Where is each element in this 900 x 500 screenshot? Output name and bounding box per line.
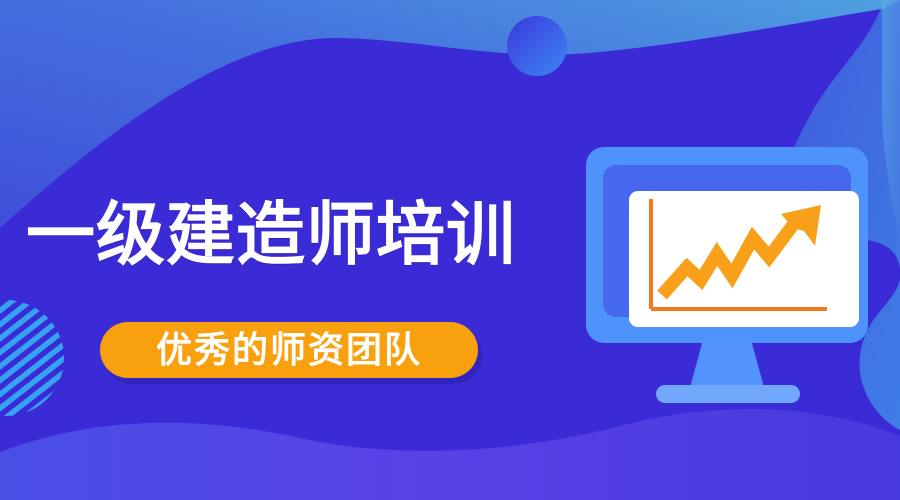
monitor-illustration — [586, 147, 868, 400]
growth-chart-icon — [629, 191, 859, 327]
promo-banner: 一级建造师培训 优秀的师资团队 — [0, 0, 900, 500]
chart-trend-line — [662, 217, 799, 295]
monitor-stand-neck — [689, 341, 765, 391]
monitor-screen — [629, 191, 859, 327]
text-block: 一级建造师培训 优秀的师资团队 — [0, 0, 540, 500]
monitor-bezel — [586, 147, 868, 343]
monitor-stand-base — [656, 385, 800, 403]
subtitle-badge-label: 优秀的师资团队 — [156, 332, 422, 368]
monitor-frame — [603, 165, 851, 317]
subtitle-badge[interactable]: 优秀的师资团队 — [100, 322, 478, 378]
page-title: 一级建造师培训 — [26, 197, 516, 273]
